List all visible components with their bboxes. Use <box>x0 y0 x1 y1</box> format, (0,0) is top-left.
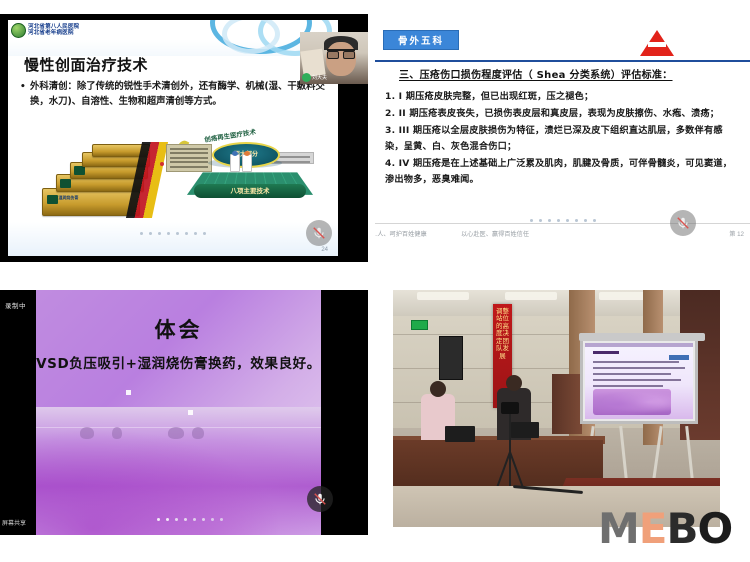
doctor-figure <box>242 154 252 172</box>
mic-on-icon <box>302 73 311 82</box>
graphic-green-bar-label: 八项主要技术 <box>194 184 306 198</box>
slide-item: 2. II 期压疮表皮丧失，已损伤表皮层和真皮层，表现为皮肤擦伤、水疱、溃疡； <box>385 106 740 122</box>
floor <box>393 486 720 527</box>
conference-room-scene: 调整站位的高度决定团队发展 <box>393 290 720 527</box>
screen-share-label: 屏幕共享 <box>2 518 26 527</box>
slide-title: 慢性创面治疗技术 <box>24 54 148 75</box>
slide-chronic-wound: 河北省第八人民医院 河北省老年病医院 慢性创面治疗技术 • 外科清创：除了传统的… <box>8 20 338 256</box>
book-mark-icon <box>47 195 58 204</box>
doctor-figure <box>230 154 240 172</box>
screenshot-collage: 河北省第八人民医院 河北省老年病医院 慢性创面治疗技术 • 外科清创：除了传统的… <box>0 0 750 562</box>
slide-header: 骨外五科 <box>375 22 750 62</box>
lavender-field-image <box>36 407 321 535</box>
panel-bottom-right-photo[interactable]: 调整站位的高度决定团队发展 <box>393 290 720 527</box>
recording-indicator: 录制中 <box>5 300 26 310</box>
tree-icon <box>112 427 122 439</box>
laptop <box>445 426 475 442</box>
slide-experience: 体会 VSD负压吸引+湿润烧伤膏换药，效果良好。 <box>36 290 321 535</box>
projection-screen <box>580 338 698 424</box>
department-badge: 骨外五科 <box>383 30 459 50</box>
screen-image-area <box>593 389 671 415</box>
slide-subtitle: VSD负压吸引+湿润烧伤膏换药，效果良好。 <box>36 352 321 372</box>
tree-icon <box>80 427 94 439</box>
participant-face <box>326 42 356 76</box>
book-mark-icon <box>74 166 85 175</box>
slide-heading: 三、压疮伤口损伤程度评估（ Shea 分类系统）评估标准： <box>399 66 740 81</box>
hospital-red-logo-icon <box>640 26 674 56</box>
slide-item: 3. III 期压疮以全层皮肤损伤为特征，溃烂已深及皮下组织直达肌层，多数伴有感… <box>385 123 740 155</box>
footer-slogan-mid: 以心赴医、赢得百姓信任 <box>461 229 529 238</box>
footer-page-number: 第 12 <box>729 229 744 238</box>
book-stack-graphic: 湿润烧伤膏 <box>42 142 160 214</box>
mic-muted-icon <box>312 226 326 240</box>
hospital-emblem-icon <box>11 23 26 38</box>
participant-video-tile[interactable]: 刘大夫 <box>300 32 368 84</box>
camera-icon <box>501 402 519 414</box>
podium <box>552 374 582 434</box>
slide-graphic: 湿润烧伤膏 创疡再生医疗技术 两大部分 <box>8 128 338 228</box>
mic-muted-icon <box>676 216 690 230</box>
slide-progress-dots <box>157 518 223 521</box>
slide-progress-dots <box>140 232 206 235</box>
ceiling-light <box>417 292 469 300</box>
panel-bottom-left-slide-capture[interactable]: 录制中 屏幕共享 体会 VSD负压吸引+湿润烧伤膏换药，效果良好。 <box>0 290 368 535</box>
cursor-marker <box>126 390 131 395</box>
ceiling <box>393 290 720 316</box>
mute-button[interactable] <box>306 220 332 246</box>
loudspeaker <box>439 336 463 380</box>
screen-content <box>585 343 693 419</box>
glasses-icon <box>327 49 355 57</box>
cursor-marker <box>188 410 193 415</box>
slide-bullet-text: • 外科清创：除了传统的锐性手术清创外，还有酶学、机械(湿、干敷料交换，水刀)、… <box>30 80 326 109</box>
book-item: 湿润烧伤膏 <box>42 188 140 216</box>
bullet-body: 外科清创：除了传统的锐性手术清创外，还有酶学、机械(湿、干敷料交换，水刀)、自溶… <box>30 81 325 107</box>
camera-tripod <box>485 402 535 498</box>
slide-page-number: 24 <box>321 247 328 253</box>
bullet-dot-icon: • <box>20 81 26 95</box>
book-label: 湿润烧伤膏 <box>58 195 78 201</box>
mic-muted-icon <box>313 492 327 506</box>
participant-nametag: 刘大夫 <box>302 73 327 82</box>
slide-footer-band: 24 <box>8 222 338 256</box>
tree-icon <box>192 427 204 439</box>
panel-top-left-slide-capture[interactable]: 河北省第八人民医院 河北省老年病医院 慢性创面治疗技术 • 外科清创：除了传统的… <box>0 14 368 262</box>
hospital-logo: 河北省第八人民医院 河北省老年病医院 <box>11 23 79 38</box>
callout-box <box>166 144 212 172</box>
doctor-figures-icon <box>230 154 256 172</box>
footer-slogan-left: …人、呵护百姓健康 <box>375 229 427 238</box>
slide-progress-dots <box>530 219 596 222</box>
tree-icon <box>168 427 184 439</box>
book-mark-icon <box>60 179 71 188</box>
hospital-name-line2: 河北省老年病医院 <box>28 31 79 37</box>
slide-item: 4. IV 期压疮是在上述基础上广泛累及肌肉，肌腱及骨质，可伴骨髓炎，可见窦道，… <box>385 156 740 188</box>
participant-name: 刘大夫 <box>312 74 327 81</box>
accent-dot-icon <box>160 162 164 166</box>
person-head <box>506 375 522 391</box>
mute-button[interactable] <box>670 210 696 236</box>
exit-sign-icon <box>411 320 428 330</box>
slide-item: 1. I 期压疮皮肤完整，但已出现红斑，压之褪色； <box>385 89 740 105</box>
slide-heading-text: 三、压疮伤口损伤程度评估（ Shea 分类系统）评估标准： <box>399 70 673 81</box>
mute-button[interactable] <box>307 486 333 512</box>
panel-top-right-slide-capture[interactable]: 骨外五科 三、压疮伤口损伤程度评估（ Shea 分类系统）评估标准： 1. I … <box>375 10 750 268</box>
screen-mount <box>579 333 705 341</box>
person-head <box>430 381 446 397</box>
ceiling-light <box>505 292 557 300</box>
graphic-green-bar: 八项主要技术 <box>194 184 306 198</box>
slide-title: 体会 <box>36 314 321 344</box>
banner-text: 调整站位的高度决定团队发展 <box>493 304 512 360</box>
slide-header-band: 河北省第八人民医院 河北省老年病医院 <box>8 20 338 56</box>
slide-body: 三、压疮伤口损伤程度评估（ Shea 分类系统）评估标准： 1. I 期压疮皮肤… <box>375 66 750 190</box>
